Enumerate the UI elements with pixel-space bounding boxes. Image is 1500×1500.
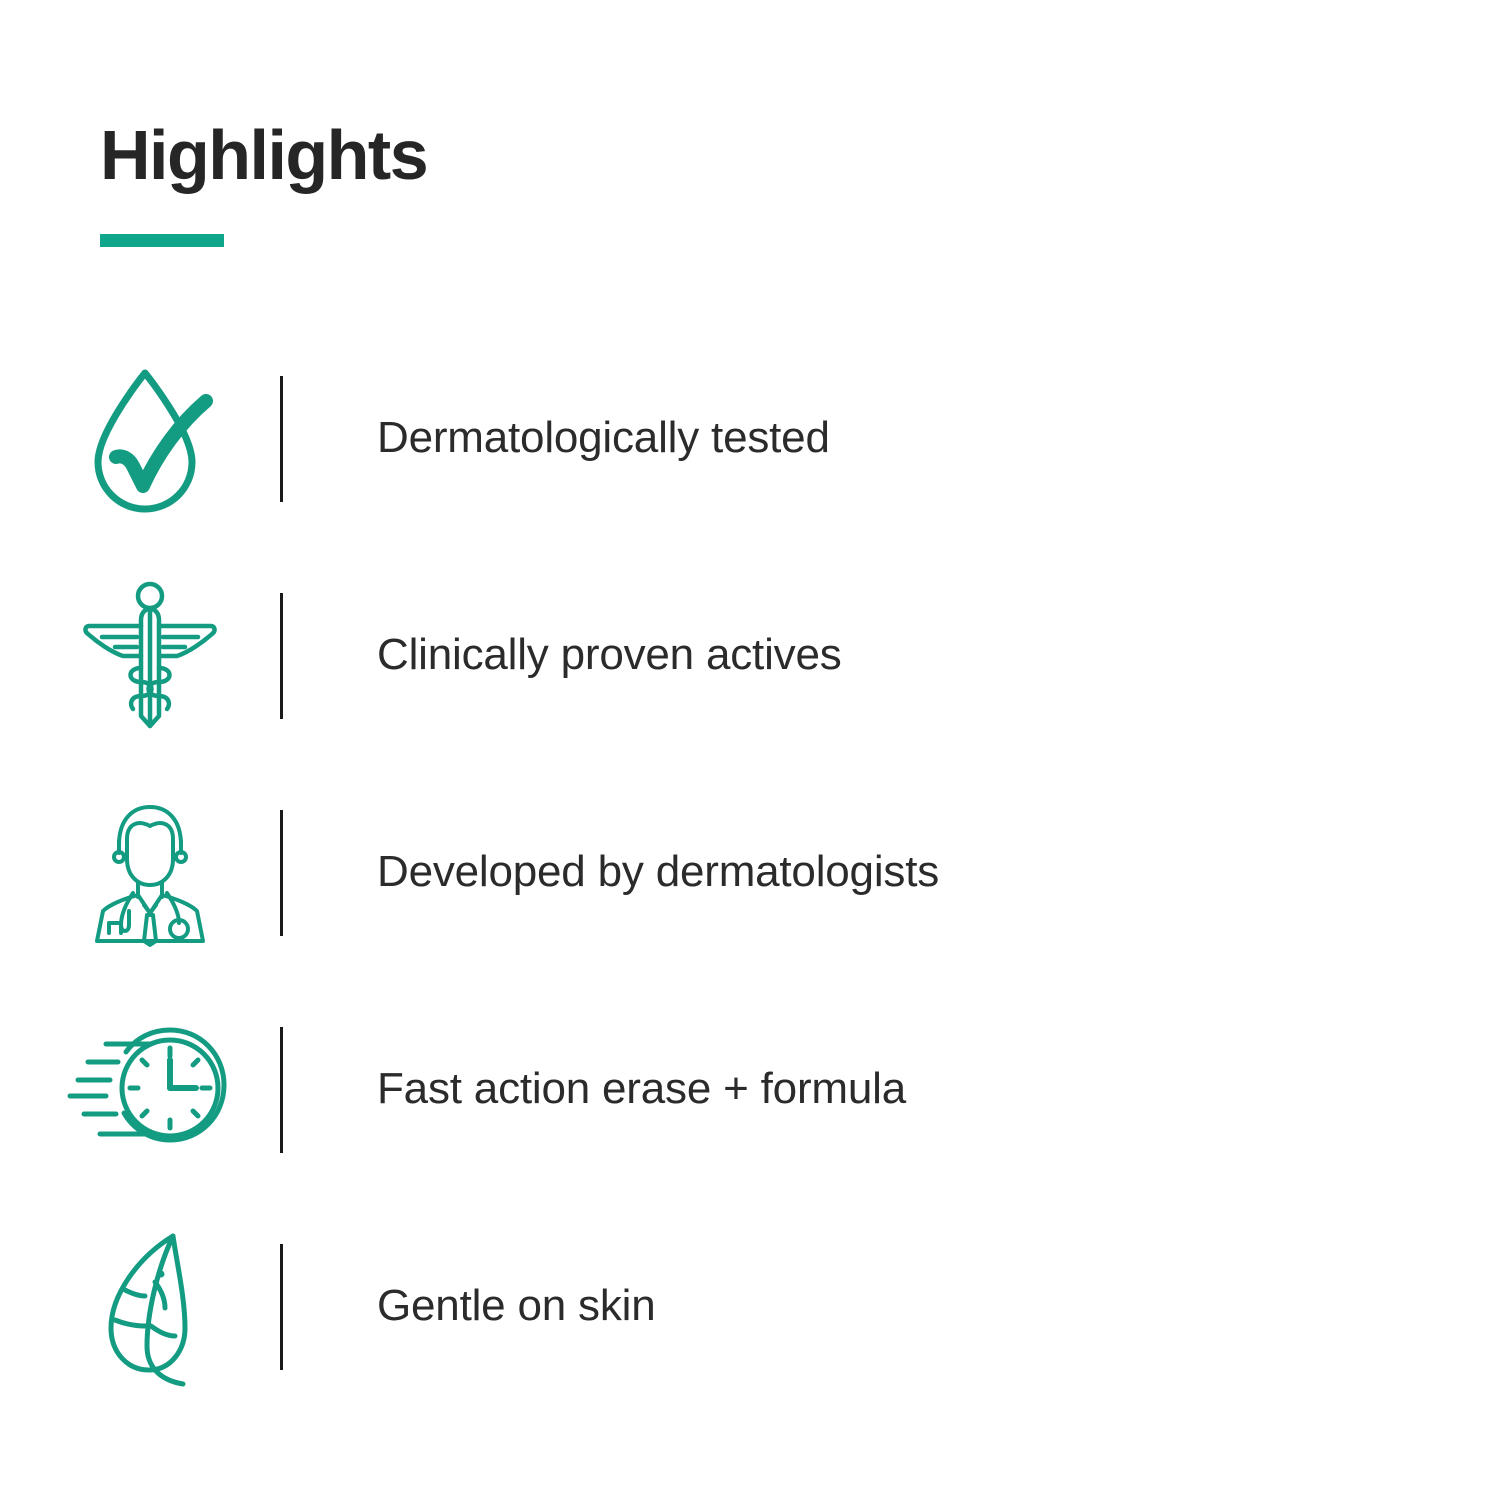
highlight-label: Dermatologically tested bbox=[377, 414, 830, 462]
row-divider bbox=[280, 1027, 283, 1153]
highlight-label: Clinically proven actives bbox=[377, 631, 842, 679]
header: Highlights bbox=[100, 120, 427, 247]
highlights-list: Dermatologically tested bbox=[0, 330, 1500, 1415]
fast-clock-icon bbox=[0, 1010, 280, 1170]
highlight-label: Gentle on skin bbox=[377, 1282, 655, 1330]
highlight-row: Clinically proven actives bbox=[0, 547, 1500, 764]
row-divider bbox=[280, 593, 283, 719]
title-accent-underline bbox=[100, 234, 224, 247]
row-divider bbox=[280, 1244, 283, 1370]
highlight-label: Fast action erase + formula bbox=[377, 1065, 906, 1113]
row-divider bbox=[280, 376, 283, 502]
highlight-row: Fast action erase + formula bbox=[0, 981, 1500, 1198]
highlight-row: Gentle on skin bbox=[0, 1198, 1500, 1415]
row-divider bbox=[280, 810, 283, 936]
highlight-row: Developed by dermatologists bbox=[0, 764, 1500, 981]
doctor-stethoscope-icon bbox=[0, 793, 280, 953]
highlight-row: Dermatologically tested bbox=[0, 330, 1500, 547]
feather-icon bbox=[0, 1227, 280, 1387]
caduceus-icon bbox=[0, 576, 280, 736]
page-title: Highlights bbox=[100, 120, 427, 190]
highlights-page: Highlights Dermatologically tested bbox=[0, 0, 1500, 1500]
highlight-label: Developed by dermatologists bbox=[377, 848, 939, 896]
water-droplet-check-icon bbox=[0, 359, 280, 519]
